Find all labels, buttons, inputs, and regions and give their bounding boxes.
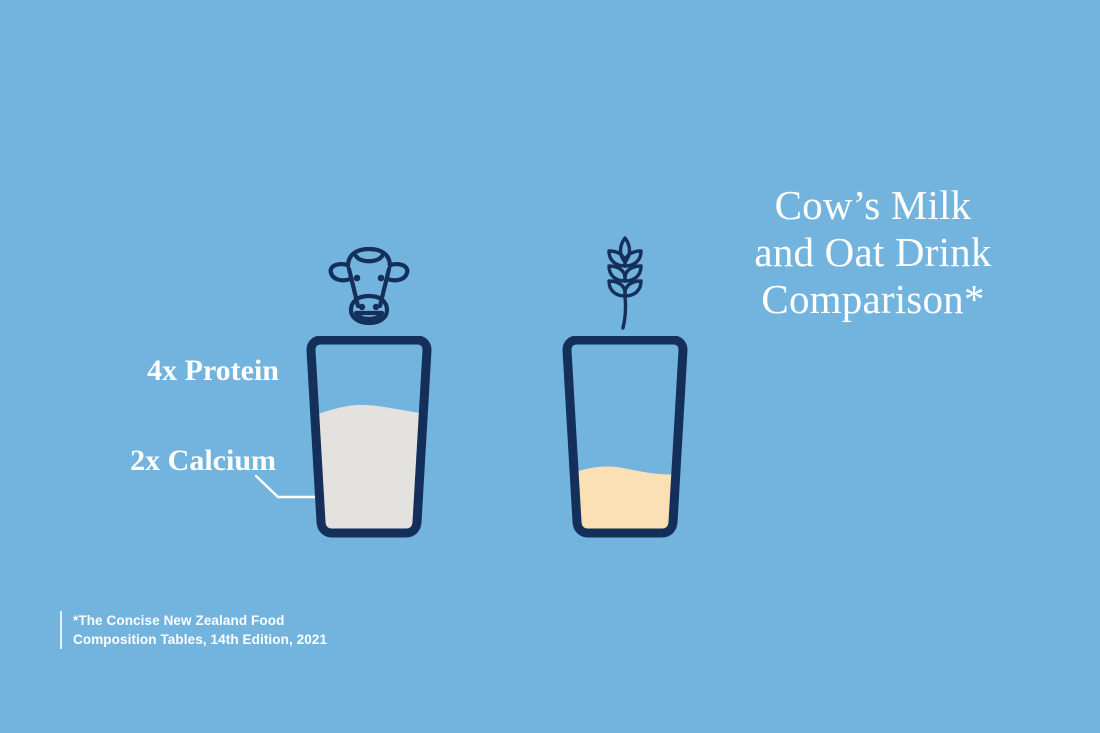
column-oat-drink [535, 236, 715, 541]
infographic-canvas: Cow’s Milk and Oat Drink Comparison* 4x … [0, 0, 1100, 733]
milk-glass [295, 336, 443, 541]
stat-label-calcium: 2x Calcium [0, 444, 276, 478]
footnote-line-1: *The Concise New Zealand Food [73, 611, 327, 630]
oat-stalk-icon [593, 234, 657, 334]
cow-eye-right [378, 275, 385, 282]
title-line-2: and Oat Drink [700, 229, 1046, 276]
cow-icon-wrapper [279, 236, 459, 332]
oat-icon-wrapper [535, 236, 715, 332]
milk-glass-wrapper [279, 336, 459, 541]
footnote-line-2: Composition Tables, 14th Edition, 2021 [73, 630, 327, 649]
page-title: Cow’s Milk and Oat Drink Comparison* [700, 182, 1046, 323]
column-cows-milk [279, 236, 459, 541]
oat-glass-wrapper [535, 336, 715, 541]
oat-glass [551, 336, 699, 541]
cow-eye-left [354, 275, 361, 282]
title-line-1: Cow’s Milk [700, 182, 1046, 229]
title-line-3: Comparison* [700, 276, 1046, 323]
cow-nostril-left [359, 304, 365, 310]
cow-nostril-right [373, 304, 379, 310]
footnote-source: *The Concise New Zealand Food Compositio… [60, 611, 327, 649]
stat-label-protein: 4x Protein [0, 354, 279, 388]
cow-head-icon [323, 238, 415, 330]
